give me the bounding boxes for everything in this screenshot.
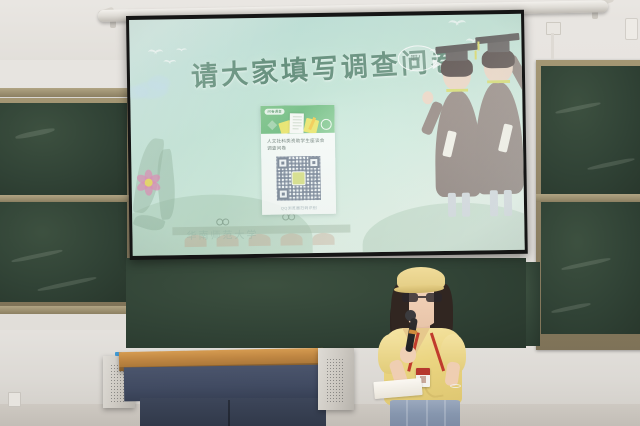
chalk-smudge: [551, 302, 591, 314]
wall-sensor-conduit: [551, 33, 554, 59]
pink-flower: [135, 169, 161, 195]
graduate-hand-raised: [521, 44, 524, 57]
survey-qr-card[interactable]: 问卷调查 人文社科类资助学生座谈会调查问卷: [260, 105, 336, 215]
bird-icon: [448, 20, 467, 29]
chalk-smudge: [561, 257, 611, 271]
qr-finder-pattern: [308, 157, 319, 168]
hero-decor-shape: [267, 120, 277, 130]
chalk-smudge: [15, 127, 55, 140]
right-blackboard-upper-panel: [541, 66, 640, 194]
left-blackboard-top-rail: [0, 88, 138, 97]
lectern-base: [140, 398, 326, 426]
id-badge-header: [416, 368, 430, 375]
left-blackboard-divider: [0, 195, 130, 202]
chalk-smudge: [11, 249, 63, 264]
graduate-leg: [490, 190, 498, 216]
speaker-grille: [326, 358, 344, 403]
qr-code-container[interactable]: [261, 154, 336, 204]
presenter-denim-skirt: [390, 400, 460, 426]
sunglasses-icon: [401, 293, 443, 302]
chalk-smudge: [587, 157, 635, 171]
flower-center: [145, 179, 153, 187]
right-blackboard: [536, 60, 640, 350]
skirt-seam: [444, 400, 446, 426]
graduate-gown: [474, 82, 524, 195]
qr-finder-pattern: [277, 157, 288, 168]
classroom-photo-scene: 请大家填写调查问卷: [0, 0, 640, 426]
skirt-seam: [406, 400, 408, 426]
wall-outlet: [8, 392, 21, 407]
qr-card-footer: QQ浏览器扫码识别: [262, 203, 336, 215]
cyclist-silhouette: [216, 214, 229, 225]
qr-finder-pattern: [278, 188, 289, 199]
speech-bubble-text: 耶！: [411, 53, 425, 63]
slide-watermark: 华南师范大学: [186, 226, 258, 242]
right-speaker: [318, 348, 354, 410]
hero-clock-icon: [321, 119, 332, 130]
lectern-base-seam: [228, 400, 230, 426]
projection-screen: 请大家填写调查问卷: [126, 10, 528, 260]
graduate-leg: [448, 193, 456, 217]
qr-card-hero-badge: 问卷调查: [264, 109, 284, 115]
graduate-cap-tassel: [477, 41, 479, 50]
presenter-bracelet: [450, 384, 461, 388]
qr-center-logo: [291, 171, 305, 185]
skirt-seam: [426, 400, 428, 426]
left-blackboard: [0, 98, 130, 310]
graduate-figure-right: [467, 24, 525, 245]
qr-card-illustration: 问卷调查: [260, 105, 334, 134]
lectern-front-panel: [124, 365, 322, 402]
bridge-arch: [312, 233, 334, 245]
left-blackboard-lower-panel: [0, 202, 127, 302]
right-blackboard-lower-panel: [541, 202, 640, 334]
bridge-arch: [280, 233, 302, 245]
left-blackboard-tray: [0, 306, 138, 314]
qr-code[interactable]: [276, 156, 321, 201]
hero-paper-icon: [290, 113, 304, 133]
wall-intercom: [625, 18, 638, 40]
qr-card-heading: 人文社科类资助学生座谈会调查问卷: [261, 133, 335, 155]
bird-icon: [176, 48, 187, 54]
presenter: [372, 262, 484, 426]
graduate-leg: [504, 190, 512, 216]
chalk-smudge: [555, 101, 601, 114]
left-blackboard-upper-panel: [0, 103, 127, 195]
graduate-hand-peace-sign: [422, 91, 433, 104]
slide-content: 请大家填写调查问卷: [129, 14, 525, 256]
chalk-smudge: [37, 276, 97, 292]
right-blackboard-divider: [536, 194, 640, 202]
